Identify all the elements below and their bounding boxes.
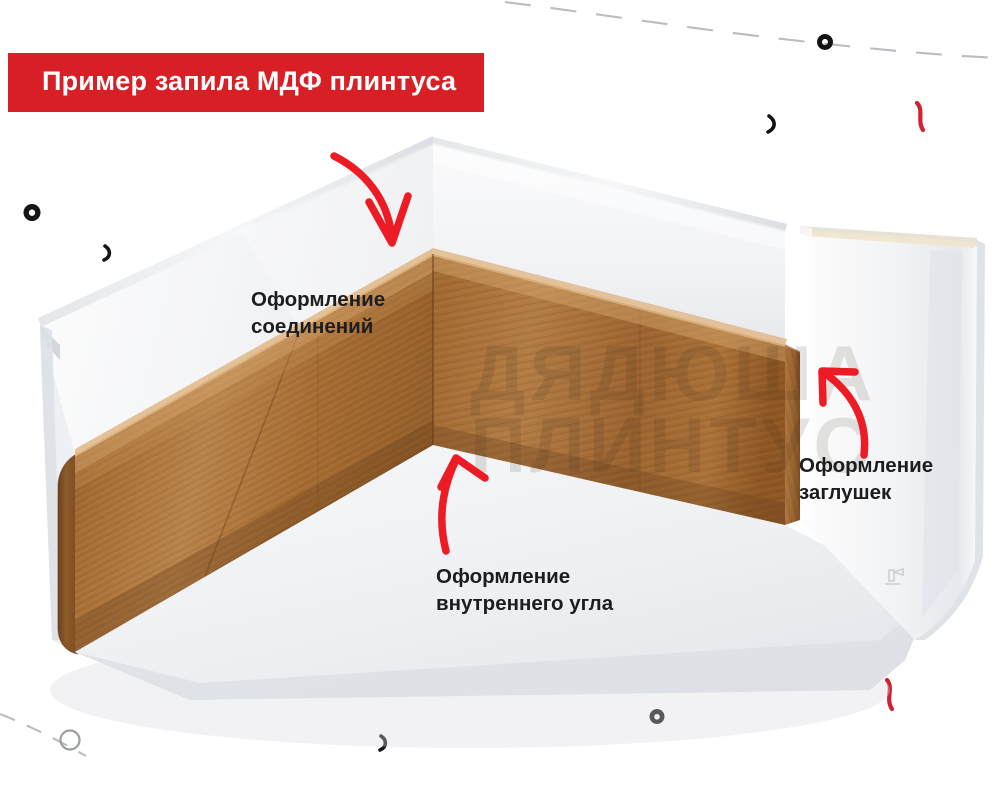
comma-mark-left [104,246,109,260]
callout-joints-line2: соединений [251,313,385,340]
squiggle-top-right [917,103,923,130]
comma-mark-top [768,116,774,132]
plinth-left-end-cap [58,455,78,654]
callout-label-joints: Оформление соединений [251,286,385,341]
callout-label-end-caps: Оформление заглушек [799,452,933,507]
plinth-corner-photo: ДЯДЮША ПЛИНТУС [38,136,985,748]
callout-label-inner-corner: Оформление внутреннего угла [436,563,613,618]
title-banner: Пример запила МДФ плинтуса [8,53,484,112]
illustration-canvas: ДЯДЮША ПЛИНТУС Пример запила МДФ [0,0,1000,800]
ring-dot-top-right [817,34,833,50]
title-banner-text: Пример запила МДФ плинтуса [42,68,456,95]
scene-illustration: ДЯДЮША ПЛИНТУС [0,0,1000,800]
callout-inner-line1: Оформление [436,563,613,590]
ring-outline-bottom-left [61,731,80,750]
callout-joints-line1: Оформление [251,286,385,313]
callout-inner-line2: внутреннего угла [436,590,613,617]
callout-caps-line2: заглушек [799,479,933,506]
ring-dot-left [24,204,41,221]
dashed-curve-top [505,2,1000,58]
callout-caps-line1: Оформление [799,452,933,479]
